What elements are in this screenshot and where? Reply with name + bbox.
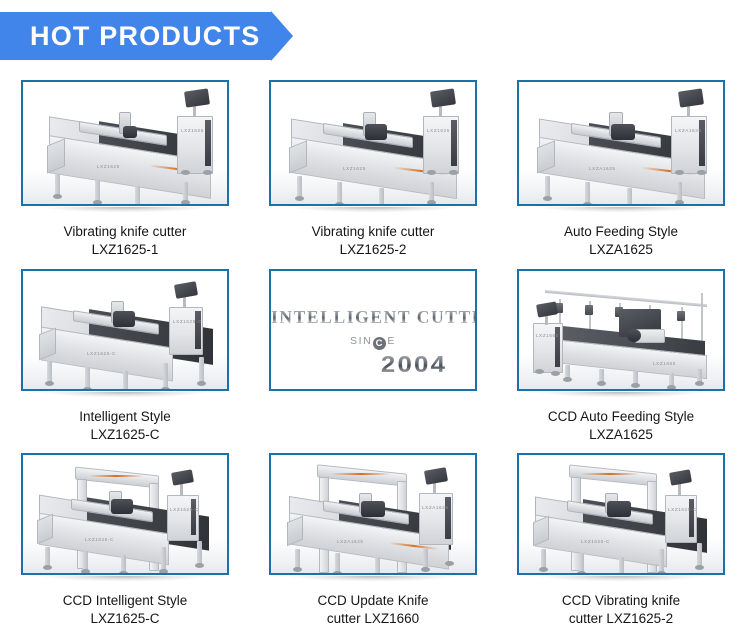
card-shadow — [269, 576, 477, 588]
product-cell: LXZ1625-C LXZ1625-C — [517, 453, 729, 633]
cabinet-label: LXZA1625 — [422, 505, 449, 510]
since-suffix: E — [387, 335, 396, 347]
product-image-card-ccd-auto-feeding-style-lxza1625[interactable]: LXZ1660 LXZ1660 — [517, 269, 725, 391]
caption-line-2: cutter LXZ1660 — [269, 610, 477, 628]
machine-model-label: LXZA1625 — [589, 166, 616, 171]
machine-model-label: LXZ1660 — [653, 361, 676, 366]
product-cell: LXZ1625 LXZ1625 — [21, 80, 233, 267]
machine-model-label: LXZA1625 — [337, 539, 364, 544]
product-cell: LXZA1625 LXZA1625 CC — [269, 453, 481, 633]
machine-illustration: LXZ1625-C LXZ1625-C — [23, 271, 227, 389]
card-shadow — [21, 576, 229, 588]
product-caption: CCD Vibrating knife cutter LXZ1625-2 — [517, 592, 725, 628]
cabinet-label: LXZ1625-C — [170, 507, 199, 512]
card-shadow — [269, 207, 477, 219]
caption-line-1: CCD Intelligent Style — [63, 593, 188, 608]
caption-line-1: CCD Vibrating knife — [562, 593, 680, 608]
card-shadow — [517, 392, 725, 404]
machine-illustration: LXZ1625 LXZ1625 — [23, 82, 227, 204]
since-label: SINCE — [271, 335, 475, 350]
product-image-card-intelligent-style-lxz1625-c[interactable]: LXZ1625-C LXZ1625-C — [21, 269, 229, 391]
card-shadow — [21, 207, 229, 219]
product-image-card-ccd-update-knife-cutter-lxz1660[interactable]: LXZA1625 LXZA1625 — [269, 453, 477, 575]
product-image-card-vibrating-knife-cutter-lxz1625-2[interactable]: LXZ1625 LXZ1625 — [269, 80, 477, 206]
caption-line-1: CCD Update Knife — [317, 593, 428, 608]
product-image-card-auto-feeding-style-lxza1625[interactable]: LXZA1625 LXZA1625 — [517, 80, 725, 206]
card-shadow — [517, 576, 725, 588]
caption-line-1: Vibrating knife cutter — [64, 224, 187, 239]
product-image-card-vibrating-knife-cutter-lxz1625-1[interactable]: LXZ1625 LXZ1625 — [21, 80, 229, 206]
product-image-card-ccd-intelligent-style-lxz1625-c[interactable]: LXZ1625-C LXZ1625-C — [21, 453, 229, 575]
product-cell: LXZA1625 LXZA1625 — [517, 80, 729, 267]
caption-line-2: cutter LXZ1625-2 — [517, 610, 725, 628]
caption-line-2: LXZ1625-1 — [21, 241, 229, 259]
product-cell: LXZ1625-C LXZ1625-C — [21, 269, 233, 451]
since-year: 2004 — [381, 351, 447, 378]
cabinet-label: LXZ1625-C — [173, 319, 202, 324]
caption-line-2: LXZ1625-2 — [269, 241, 477, 259]
machine-model-label: LXZ1625-C — [87, 351, 116, 356]
product-caption: Vibrating knife cutter LXZ1625-2 — [269, 223, 477, 259]
product-caption: CCD Intelligent Style LXZ1625-C — [21, 592, 229, 628]
machine-illustration: LXZA1625 LXZA1625 — [271, 455, 475, 573]
machine-illustration: LXZ1625-C LXZ1625-C — [23, 455, 227, 573]
caption-line-2: LXZA1625 — [517, 426, 725, 444]
product-cell: LXZ1625-C LXZ1625-C — [21, 453, 233, 633]
machine-illustration: LXZA1625 LXZA1625 — [519, 82, 723, 204]
product-grid: LXZ1625 LXZ1625 — [21, 80, 729, 635]
product-cell: LXZ1625 LXZ1625 — [269, 80, 481, 267]
product-caption: Intelligent Style LXZ1625-C — [21, 408, 229, 444]
caption-line-2: LXZA1625 — [517, 241, 725, 259]
card-shadow — [517, 207, 725, 219]
banner-arrow-tip — [271, 11, 293, 61]
brand-name: INTELLIGENT CUTTER — [271, 307, 475, 328]
cabinet-label: LXZ1625-C — [668, 507, 697, 512]
machine-illustration: LXZ1660 LXZ1660 — [519, 271, 723, 389]
product-caption: CCD Auto Feeding Style LXZA1625 — [517, 408, 725, 444]
cabinet-label: LXZA1625 — [675, 128, 702, 133]
machine-model-label: LXZ1625 — [97, 164, 120, 169]
machine-illustration: LXZ1625-C LXZ1625-C — [519, 455, 723, 573]
brand-logo-cell: INTELLIGENT CUTTER SINCE 2004 — [269, 269, 481, 451]
since-c-badge-icon: C — [373, 337, 386, 350]
caption-line-1: Intelligent Style — [79, 409, 171, 424]
cabinet-label: LXZ1625 — [181, 128, 204, 133]
caption-line-1: Vibrating knife cutter — [312, 224, 435, 239]
card-shadow — [21, 392, 229, 404]
product-caption: Auto Feeding Style LXZA1625 — [517, 223, 725, 259]
caption-line-1: Auto Feeding Style — [564, 224, 678, 239]
cabinet-label: LXZ1625 — [427, 128, 450, 133]
product-image-card-ccd-vibrating-knife-cutter-lxz1625-2[interactable]: LXZ1625-C LXZ1625-C — [517, 453, 725, 575]
product-caption: CCD Update Knife cutter LXZ1660 — [269, 592, 477, 628]
caption-line-2: LXZ1625-C — [21, 610, 229, 628]
brand-logo-card: INTELLIGENT CUTTER SINCE 2004 — [269, 269, 477, 391]
machine-model-label: LXZ1625-C — [581, 539, 610, 544]
since-prefix: SIN — [350, 335, 372, 347]
cabinet-label: LXZ1660 — [536, 333, 559, 338]
caption-line-2: LXZ1625-C — [21, 426, 229, 444]
machine-model-label: LXZ1625 — [343, 166, 366, 171]
machine-illustration: LXZ1625 LXZ1625 — [271, 82, 475, 204]
hot-products-banner: HOT PRODUCTS — [0, 12, 300, 60]
product-cell: LXZ1660 LXZ1660 — [517, 269, 729, 451]
machine-model-label: LXZ1625-C — [85, 537, 114, 542]
caption-line-1: CCD Auto Feeding Style — [548, 409, 694, 424]
product-caption: Vibrating knife cutter LXZ1625-1 — [21, 223, 229, 259]
page-title: HOT PRODUCTS — [30, 12, 260, 60]
